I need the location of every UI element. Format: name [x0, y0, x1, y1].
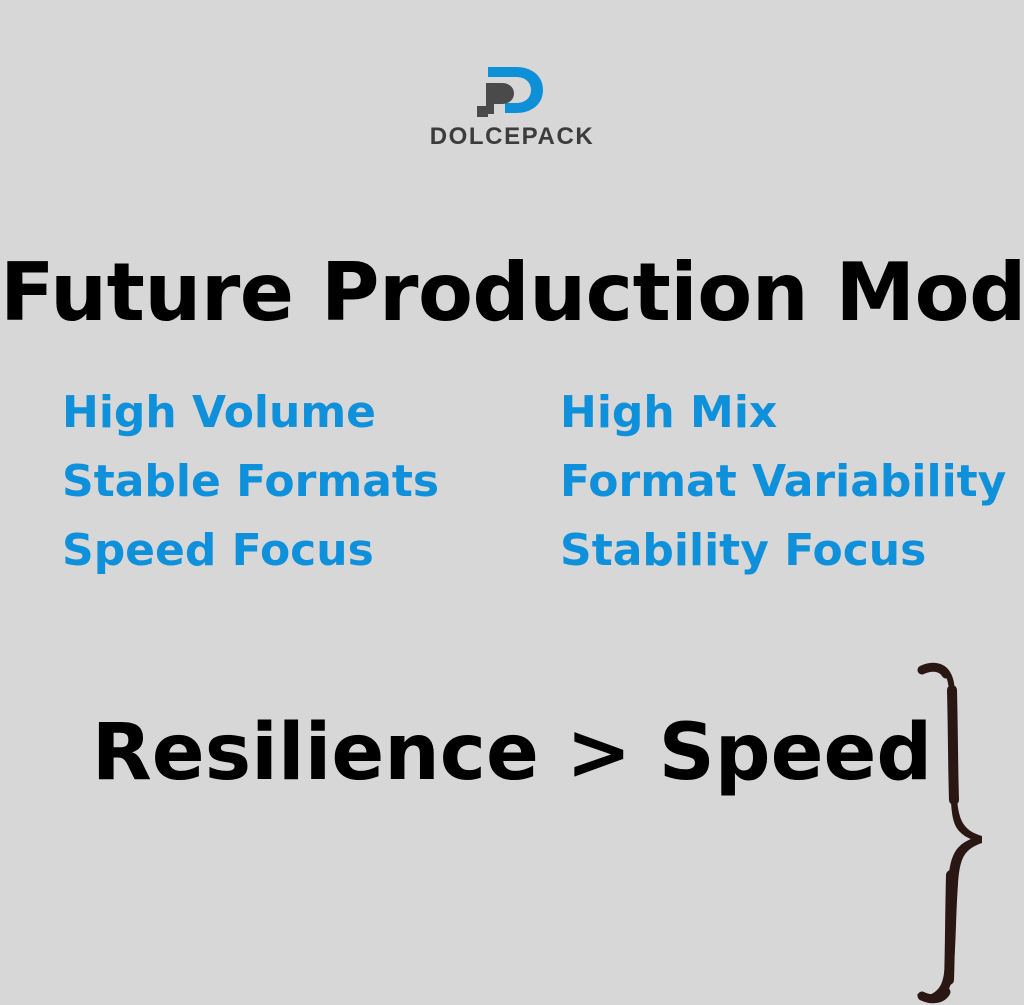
comparison-left-line-1: High Volume: [62, 378, 439, 447]
page-title: Future Production Model: [0, 245, 1024, 341]
brand-wordmark: DOLCEPACK: [430, 125, 595, 149]
comparison-right-line-2: Format Variability: [560, 447, 1006, 516]
comparison-right-line-1: High Mix: [560, 378, 1006, 447]
comparison-columns: High Volume Stable Formats Speed Focus H…: [0, 378, 1024, 598]
comparison-left-line-3: Speed Focus: [62, 516, 439, 585]
slide-canvas: DOLCEPACK Future Production Model High V…: [0, 0, 1024, 819]
comparison-column-left: High Volume Stable Formats Speed Focus: [62, 378, 439, 585]
brand-block: DOLCEPACK: [0, 62, 1024, 149]
comparison-right-line-3: Stability Focus: [560, 516, 1006, 585]
dolcepack-d-logo-icon: [475, 62, 549, 118]
comparison-left-line-2: Stable Formats: [62, 447, 439, 516]
comparison-column-right: High Mix Format Variability Stability Fo…: [560, 378, 1006, 585]
tagline: Resilience > Speed: [0, 706, 1024, 800]
